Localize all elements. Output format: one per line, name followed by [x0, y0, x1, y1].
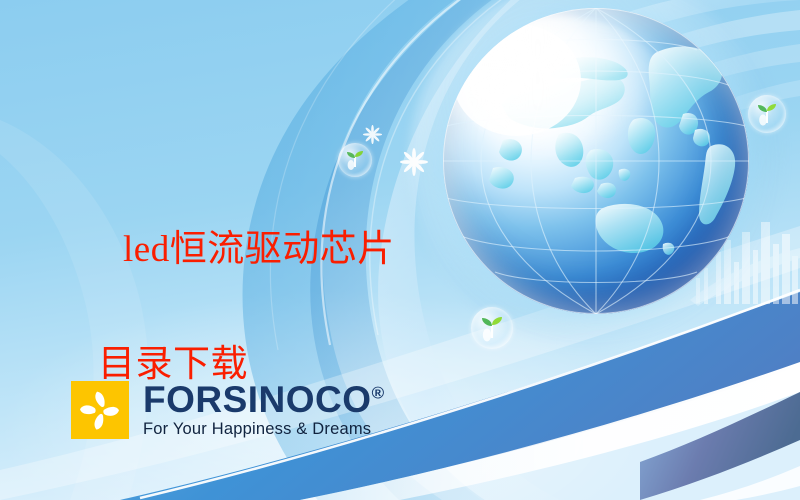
logo-text: FORSINOCO® For Your Happiness & Dreams: [143, 382, 384, 438]
white-flower-tiny: [363, 125, 382, 144]
company-logo: FORSINOCO® For Your Happiness & Dreams: [71, 381, 384, 439]
brand-name-text: FORSINOCO: [143, 379, 372, 420]
promo-banner: led恒流驱动芯片 目录下载 FORSINOCO® For Your Happi…: [0, 0, 800, 500]
globe-rim: [443, 8, 749, 314]
forsinoco-pinwheel-mark-icon: [71, 381, 129, 439]
sprout-icon: [748, 95, 786, 133]
brand-name: FORSINOCO®: [143, 382, 384, 418]
registered-trademark-icon: ®: [372, 383, 385, 402]
headline: led恒流驱动芯片 目录下载: [84, 163, 484, 500]
blue-earth-globe: [443, 8, 749, 314]
brand-tagline: For Your Happiness & Dreams: [143, 420, 384, 438]
headline-line-1: led恒流驱动芯片: [123, 229, 395, 270]
bubble-with-sprout-right: [748, 95, 786, 133]
